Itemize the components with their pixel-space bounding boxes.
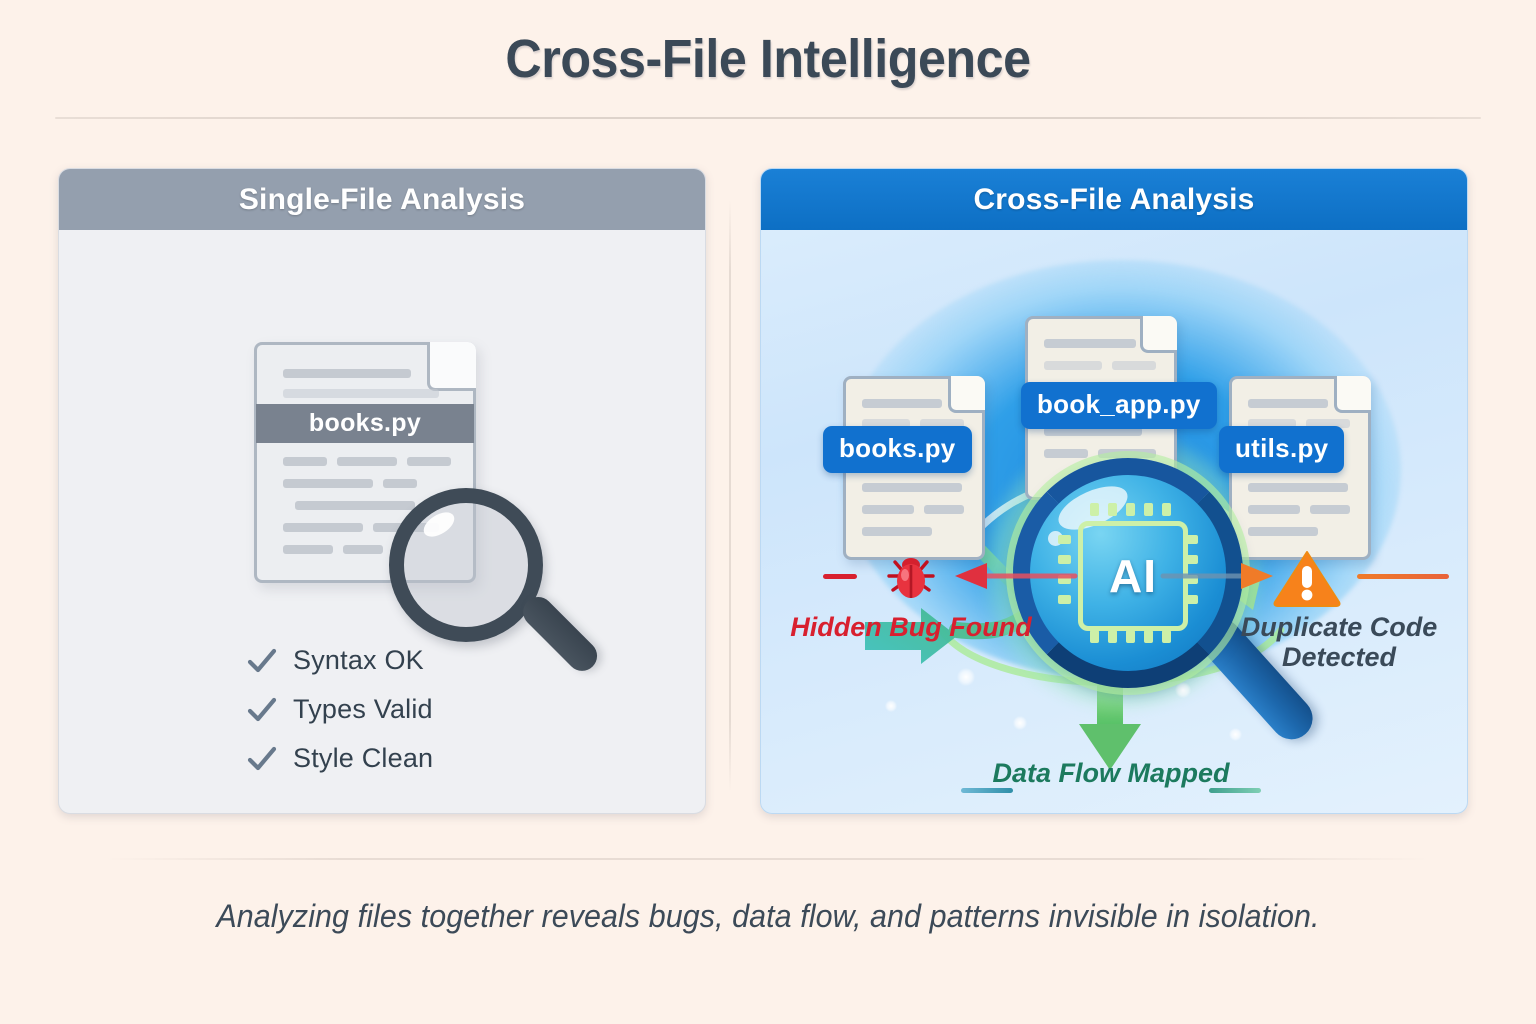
code-line xyxy=(1248,483,1348,492)
code-line xyxy=(862,483,962,492)
code-line xyxy=(295,501,415,510)
warning-triangle-icon xyxy=(1273,548,1341,608)
sparkle xyxy=(885,700,897,712)
magnifier-handle-icon xyxy=(517,591,603,677)
finding-label-dataflow: Data Flow Mapped xyxy=(961,758,1261,788)
finding-label-duplicate: Duplicate Code Detected xyxy=(1209,612,1468,672)
sparkle xyxy=(957,668,975,686)
code-line xyxy=(343,545,383,554)
footer-divider xyxy=(105,858,1430,860)
cross-file-analysis-body: books.py book_app.py utils.py xyxy=(761,230,1467,813)
document-fold-corner xyxy=(427,342,476,391)
code-line xyxy=(283,457,327,466)
checklist-item-style: Style Clean xyxy=(245,734,433,783)
bug-arrow-icon xyxy=(947,558,1077,594)
file-fold-corner xyxy=(948,376,985,413)
check-icon xyxy=(245,693,279,727)
code-line xyxy=(407,457,451,466)
code-line xyxy=(283,369,411,378)
chip-pin xyxy=(1058,535,1071,544)
file-badge-books[interactable]: books.py xyxy=(823,426,972,473)
code-line xyxy=(283,479,373,488)
analysis-checklist: Syntax OK Types Valid Style Clean xyxy=(245,636,433,783)
title-divider xyxy=(55,117,1481,119)
finding-label-bug: Hidden Bug Found xyxy=(781,612,1041,642)
footer-caption: Analyzing files together reveals bugs, d… xyxy=(38,898,1497,935)
file-badge-book-app[interactable]: book_app.py xyxy=(1021,382,1217,429)
duplicate-dash xyxy=(1357,574,1449,579)
chip-pin xyxy=(1126,503,1135,516)
code-line xyxy=(862,505,914,514)
code-line xyxy=(283,389,439,398)
code-line xyxy=(862,527,932,536)
cross-file-analysis-header: Cross-File Analysis xyxy=(761,169,1467,230)
code-line xyxy=(1044,339,1136,348)
checklist-item-types: Types Valid xyxy=(245,685,433,734)
check-icon xyxy=(245,644,279,678)
cross-file-analysis-panel: Cross-File Analysis xyxy=(760,168,1468,814)
code-line xyxy=(862,399,942,408)
page-title: Cross-File Intelligence xyxy=(54,28,1482,90)
chip-pin xyxy=(1108,503,1117,516)
file-fold-corner xyxy=(1140,316,1177,353)
chip-pin xyxy=(1144,503,1153,516)
code-line xyxy=(1044,449,1088,458)
panel-divider xyxy=(729,200,731,792)
single-file-analysis-panel: Single-File Analysis books.py xyxy=(58,168,706,814)
chip-pin xyxy=(1162,503,1171,516)
file-fold-corner xyxy=(1334,376,1371,413)
dataflow-dash-right xyxy=(1209,788,1261,793)
document-filename-band: books.py xyxy=(256,404,474,443)
code-line xyxy=(383,479,417,488)
bug-dash xyxy=(823,574,857,579)
chip-pin xyxy=(1162,630,1171,643)
dataflow-dash-left xyxy=(961,788,1013,793)
magnifier-icon xyxy=(389,488,543,642)
chip-pin xyxy=(1090,503,1099,516)
code-line xyxy=(337,457,397,466)
code-line xyxy=(1112,361,1156,370)
bug-icon xyxy=(883,548,939,604)
chip-pin xyxy=(1126,630,1135,643)
checklist-label: Style Clean xyxy=(293,743,433,774)
code-line xyxy=(1044,361,1102,370)
chip-pin xyxy=(1058,595,1071,604)
code-line xyxy=(283,545,333,554)
duplicate-arrow-icon xyxy=(1161,558,1281,594)
code-line xyxy=(1248,527,1318,536)
checklist-label: Types Valid xyxy=(293,694,433,725)
code-line xyxy=(283,523,363,532)
chip-pin xyxy=(1108,630,1117,643)
code-line xyxy=(1248,399,1328,408)
chip-pin xyxy=(1144,630,1153,643)
code-line xyxy=(1098,449,1156,458)
sparkle xyxy=(1229,728,1242,741)
code-line xyxy=(1310,505,1350,514)
check-icon xyxy=(245,742,279,776)
sparkle xyxy=(1013,716,1027,730)
checklist-item-syntax: Syntax OK xyxy=(245,636,433,685)
code-line xyxy=(1248,505,1300,514)
sparkle xyxy=(1175,682,1191,698)
single-file-analysis-body: books.py Syntax OK xyxy=(59,230,705,813)
file-badge-utils[interactable]: utils.py xyxy=(1219,426,1344,473)
checklist-label: Syntax OK xyxy=(293,645,424,676)
code-line xyxy=(924,505,964,514)
single-file-analysis-header: Single-File Analysis xyxy=(59,169,705,230)
chip-pin xyxy=(1090,630,1099,643)
